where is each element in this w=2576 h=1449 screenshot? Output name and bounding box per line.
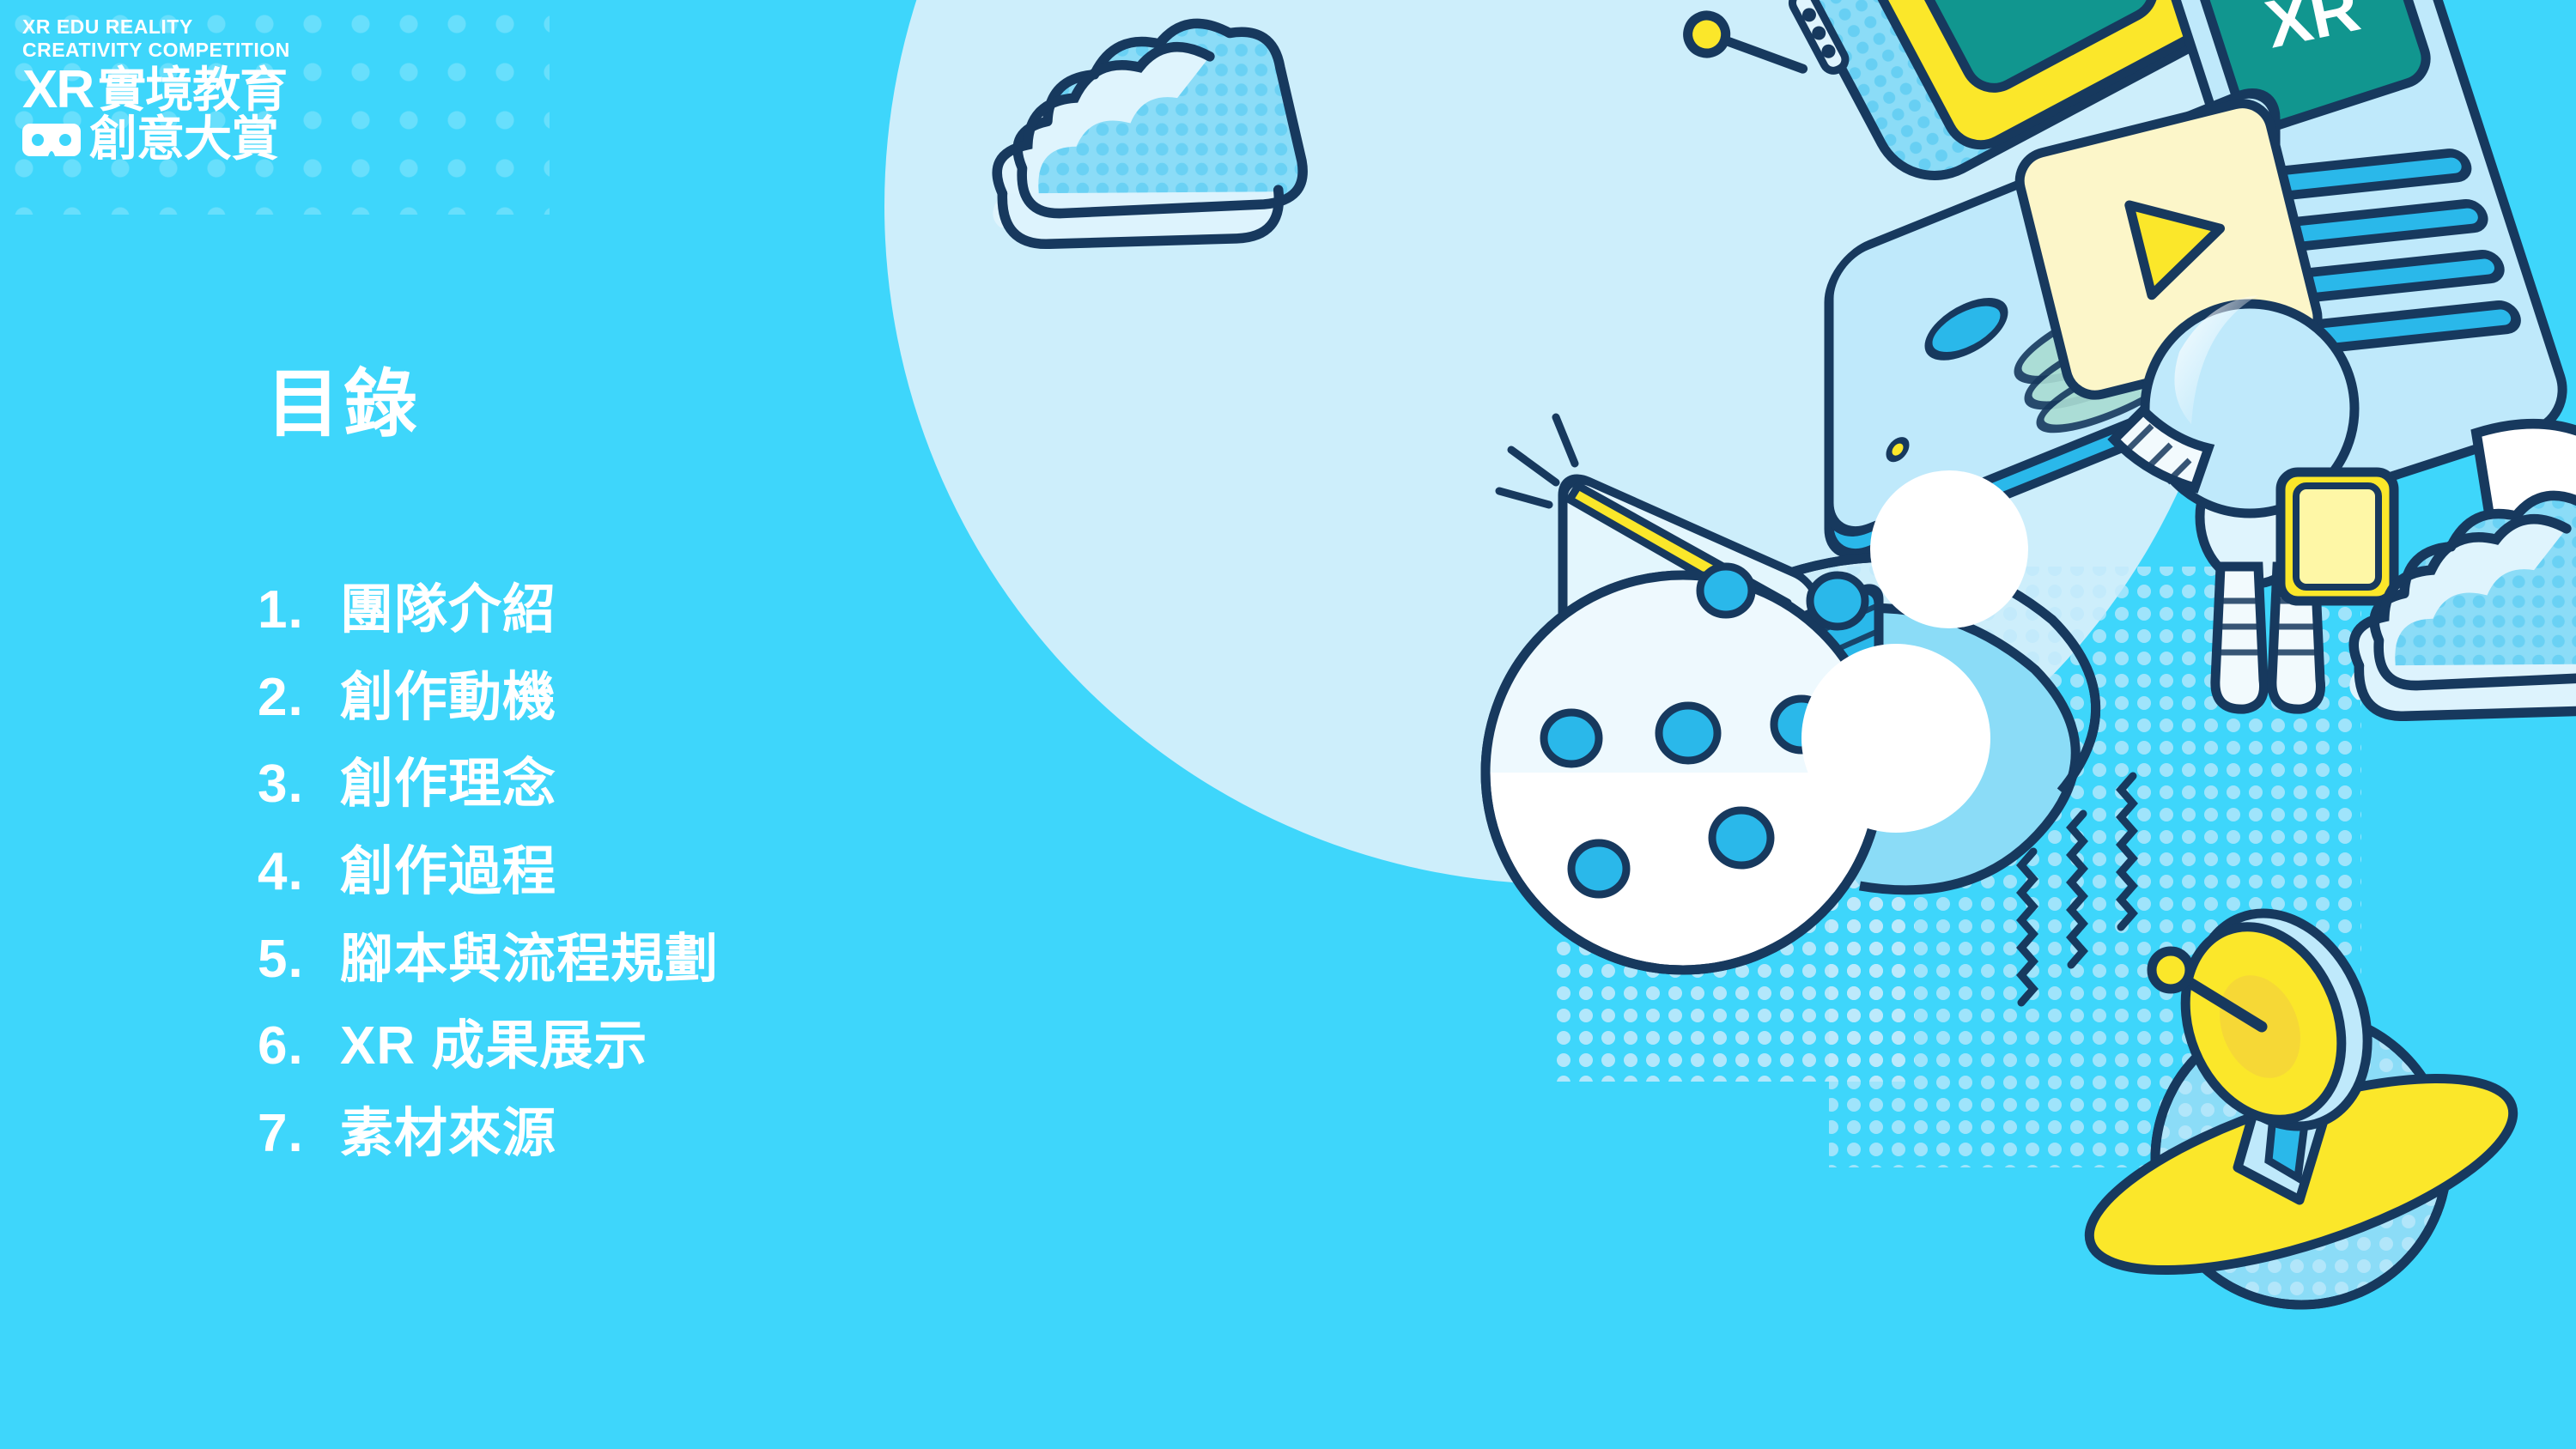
slide-root: XR Augmented Virtual Reality Mixed Reali… <box>0 0 2576 1449</box>
list-item-number: 3. <box>258 741 340 828</box>
vr-goggles-icon <box>22 124 81 156</box>
list-item[interactable]: 3. 創作理念 <box>258 741 719 828</box>
brand-tagline-line2: CREATIVITY COMPETITION <box>22 39 383 62</box>
vr-headset-illustration <box>1499 417 2096 890</box>
list-item[interactable]: 6. XR 成果展示 <box>258 1003 719 1090</box>
list-item-label: 創作理念 <box>340 741 556 828</box>
play-card-illustration <box>2014 97 2324 401</box>
list-item[interactable]: 4. 創作過程 <box>258 828 719 916</box>
page-title: 目錄 <box>266 343 421 451</box>
flat-tablet-illustration <box>1829 81 2275 567</box>
brand-logo: XR EDU REALITY CREATIVITY COMPETITION XR… <box>22 15 383 163</box>
backdrop-circle <box>884 0 2241 884</box>
astronaut-illustration <box>2114 295 2394 709</box>
list-item-number: 1. <box>258 567 340 654</box>
brand-tagline-line1: XR EDU REALITY <box>22 15 383 39</box>
tablet-device-illustration: XR <box>2151 0 2573 494</box>
list-item-number: 7. <box>258 1090 340 1178</box>
halftone-field-2 <box>1554 721 1915 1082</box>
list-item-label: 腳本與流程規劃 <box>340 916 719 1003</box>
list-item-number: 6. <box>258 1003 340 1090</box>
cloud-illustration <box>993 23 1303 244</box>
brand-logo-cn-line2: 創意大賞 <box>89 116 278 163</box>
list-item-label: XR 成果展示 <box>340 1003 647 1090</box>
list-item-number: 2. <box>258 654 340 742</box>
list-item-label: 創作過程 <box>340 828 556 916</box>
cloud-illustration-right <box>2349 424 2576 717</box>
list-item[interactable]: 7. 素材來源 <box>258 1090 719 1178</box>
list-item[interactable]: 2. 創作動機 <box>258 654 719 742</box>
list-item-number: 5. <box>258 916 340 1003</box>
table-of-contents-list: 1. 團隊介紹 2. 創作動機 3. 創作理念 4. 創作過程 5. 腳本與流程… <box>258 567 719 1178</box>
xr-banner-device: XR Augmented Virtual Reality Mixed Reali… <box>1681 0 2576 203</box>
xr-badge-label-2: XR <box>2259 0 2366 63</box>
list-item[interactable]: 5. 腳本與流程規劃 <box>258 916 719 1003</box>
brand-logo-cn-line1: 實境教育 <box>98 67 287 114</box>
xr-badge-label: XR <box>1950 0 2091 13</box>
hero-illustration: XR Augmented Virtual Reality Mixed Reali… <box>816 0 2576 1449</box>
brand-logo-xr: XR <box>22 65 93 114</box>
dotted-planet-illustration <box>1485 567 1880 970</box>
list-item-number: 4. <box>258 828 340 916</box>
list-item[interactable]: 1. 團隊介紹 <box>258 567 719 654</box>
white-sphere-1 <box>1870 470 2028 628</box>
list-item-label: 素材來源 <box>340 1090 556 1178</box>
white-sphere-2 <box>1801 644 1990 833</box>
halftone-field <box>1829 567 2361 1167</box>
list-item-label: 團隊介紹 <box>340 567 556 654</box>
satellite-planet-illustration <box>2021 776 2534 1310</box>
list-item-label: 創作動機 <box>340 654 556 742</box>
